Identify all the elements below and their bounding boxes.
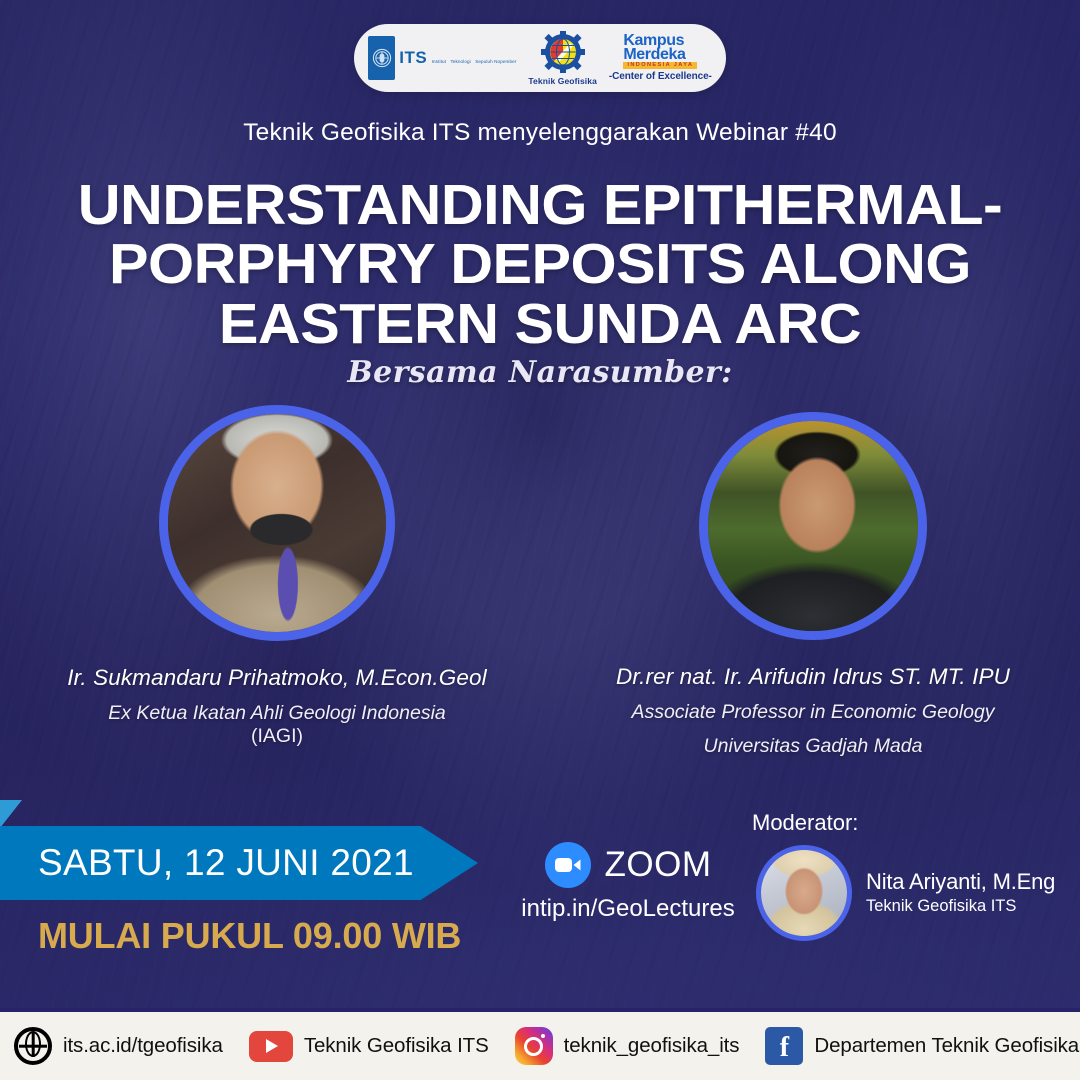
speaker-2-name: Dr.rer nat. Ir. Arifudin Idrus ST. MT. I… — [588, 664, 1038, 690]
footer-item-instagram[interactable]: teknik_geofisika_its — [515, 1027, 740, 1065]
its-abbr: ITS — [399, 48, 427, 67]
km-line-2: Merdeka — [623, 48, 697, 62]
footer-item-youtube[interactable]: Teknik Geofisika ITS — [249, 1031, 489, 1062]
speaker-2-affiliation: Universitas Gadjah Mada — [588, 735, 1038, 758]
globe-icon — [14, 1027, 52, 1065]
zoom-video-camera-icon — [545, 842, 591, 888]
moderator-name: Nita Ariyanti, M.Eng — [866, 869, 1055, 895]
event-date: SABTU, 12 JUNI 2021 — [0, 842, 414, 884]
its-crest-icon — [368, 36, 395, 80]
speaker-1-affiliation: (IAGI) — [52, 725, 502, 748]
youtube-text: Teknik Geofisika ITS — [304, 1034, 489, 1058]
kicker-text: Teknik Geofisika ITS menyelenggarakan We… — [0, 119, 1080, 147]
km-badge: INDONESIA JAYA — [623, 62, 697, 69]
event-time: MULAI PUKUL 09.00 WIB — [38, 915, 461, 957]
its-logo: ITS Institut Teknologi Sepuluh Nopember — [368, 36, 516, 80]
dept-logo-label: Teknik Geofisika — [528, 76, 597, 86]
footer-item-facebook[interactable]: f Departemen Teknik Geofisika ITS — [765, 1027, 1080, 1065]
speaker-card-1: Ir. Sukmandaru Prihatmoko, M.Econ.Geol E… — [52, 405, 502, 749]
registration-link[interactable]: intip.in/GeoLectures — [508, 895, 748, 923]
gear-globe-icon — [540, 31, 586, 75]
dept-logo: Teknik Geofisika — [528, 31, 597, 86]
its-line-2: Teknologi — [450, 59, 470, 64]
youtube-icon — [249, 1031, 293, 1062]
km-tagline: -Center of Excellence- — [609, 71, 712, 82]
platform-block: ZOOM intip.in/GeoLectures — [508, 842, 748, 923]
its-line-3: Sepuluh Nopember — [475, 59, 516, 64]
speaker-card-2: Dr.rer nat. Ir. Arifudin Idrus ST. MT. I… — [588, 412, 1038, 759]
facebook-text: Departemen Teknik Geofisika ITS — [814, 1034, 1080, 1058]
kampus-merdeka-logo: Kampus Merdeka INDONESIA JAYA -Center of… — [609, 34, 712, 82]
webinar-poster: ITS Institut Teknologi Sepuluh Nopember — [0, 0, 1080, 1080]
logo-bar: ITS Institut Teknologi Sepuluh Nopember — [354, 24, 726, 92]
moderator-photo — [756, 845, 852, 941]
platform-name: ZOOM — [605, 845, 712, 885]
speaker-photo-1 — [159, 405, 395, 641]
footer-item-website[interactable]: its.ac.id/tgeofisika — [14, 1027, 223, 1065]
speaker-1-name: Ir. Sukmandaru Prihatmoko, M.Econ.Geol — [52, 665, 502, 691]
speakers-heading: Bersama Narasumber: — [0, 355, 1080, 390]
facebook-icon: f — [765, 1027, 803, 1065]
date-banner: SABTU, 12 JUNI 2021 — [0, 826, 478, 900]
website-text: its.ac.id/tgeofisika — [63, 1034, 223, 1058]
its-line-1: Institut — [432, 59, 446, 64]
speaker-photo-2 — [699, 412, 927, 640]
speaker-1-role: Ex Ketua Ikatan Ahli Geologi Indonesia — [52, 702, 502, 725]
moderator-label: Moderator: — [752, 810, 858, 836]
moderator-card: Nita Ariyanti, M.Eng Teknik Geofisika IT… — [756, 845, 1055, 941]
instagram-icon — [515, 1027, 553, 1065]
moderator-org: Teknik Geofisika ITS — [866, 897, 1055, 916]
kampus-merdeka-wordmark: Kampus Merdeka INDONESIA JAYA — [623, 34, 697, 69]
instagram-text: teknik_geofisika_its — [564, 1034, 740, 1058]
page-title: UNDERSTANDING EPITHERMAL-PORPHYRY DEPOSI… — [0, 176, 1080, 354]
social-footer: its.ac.id/tgeofisika Teknik Geofisika IT… — [0, 1008, 1080, 1080]
its-wordmark: ITS Institut Teknologi Sepuluh Nopember — [399, 49, 516, 67]
speaker-2-role: Associate Professor in Economic Geology — [588, 701, 1038, 724]
